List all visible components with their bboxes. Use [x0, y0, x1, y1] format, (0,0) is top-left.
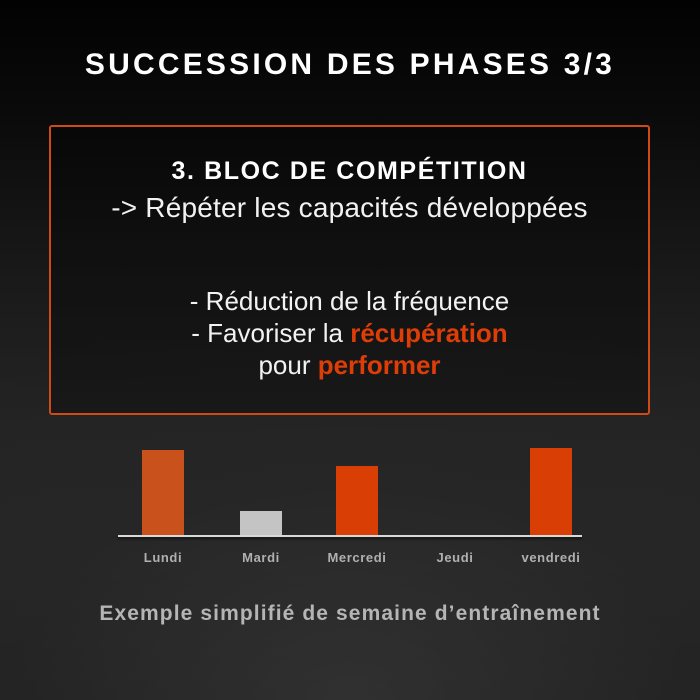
- chart-bar: [530, 448, 572, 536]
- slide-root: SUCCESSION DES PHASES 3/3 3. BLOC DE COM…: [0, 0, 700, 700]
- bullet-highlight: récupération: [350, 318, 508, 348]
- chart-x-label: vendredi: [501, 550, 601, 565]
- chart-x-label: Jeudi: [405, 550, 505, 565]
- page-title: SUCCESSION DES PHASES 3/3: [0, 48, 700, 82]
- chart-plot-area: [118, 440, 582, 536]
- bullet-text-prefix: - Favoriser la: [191, 318, 350, 348]
- list-item: pour performer: [51, 349, 648, 381]
- chart-bar: [336, 466, 378, 536]
- chart-baseline-axis: [118, 535, 582, 537]
- competition-block-panel: 3. BLOC DE COMPÉTITION -> Répéter les ca…: [49, 125, 650, 415]
- chart-x-label: Mardi: [211, 550, 311, 565]
- bullet-highlight: performer: [318, 350, 441, 380]
- bullet-text-prefix: pour: [258, 350, 317, 380]
- chart-x-label: Lundi: [113, 550, 213, 565]
- weekly-training-bar-chart: LundiMardiMercrediJeudivendredi: [110, 440, 590, 580]
- panel-heading: 3. BLOC DE COMPÉTITION: [51, 157, 648, 186]
- chart-caption: Exemple simplifié de semaine d’entraînem…: [0, 602, 700, 626]
- panel-subheading: -> Répéter les capacités développées: [51, 192, 648, 224]
- chart-bar: [240, 511, 282, 536]
- list-item: - Réduction de la fréquence: [51, 285, 648, 317]
- chart-bar: [142, 450, 184, 536]
- chart-x-label: Mercredi: [307, 550, 407, 565]
- bullet-text-prefix: - Réduction de la fréquence: [190, 286, 509, 316]
- list-item: - Favoriser la récupération: [51, 317, 648, 349]
- bullet-list: - Réduction de la fréquence - Favoriser …: [51, 285, 648, 381]
- chart-x-tick-labels: LundiMardiMercrediJeudivendredi: [110, 550, 590, 570]
